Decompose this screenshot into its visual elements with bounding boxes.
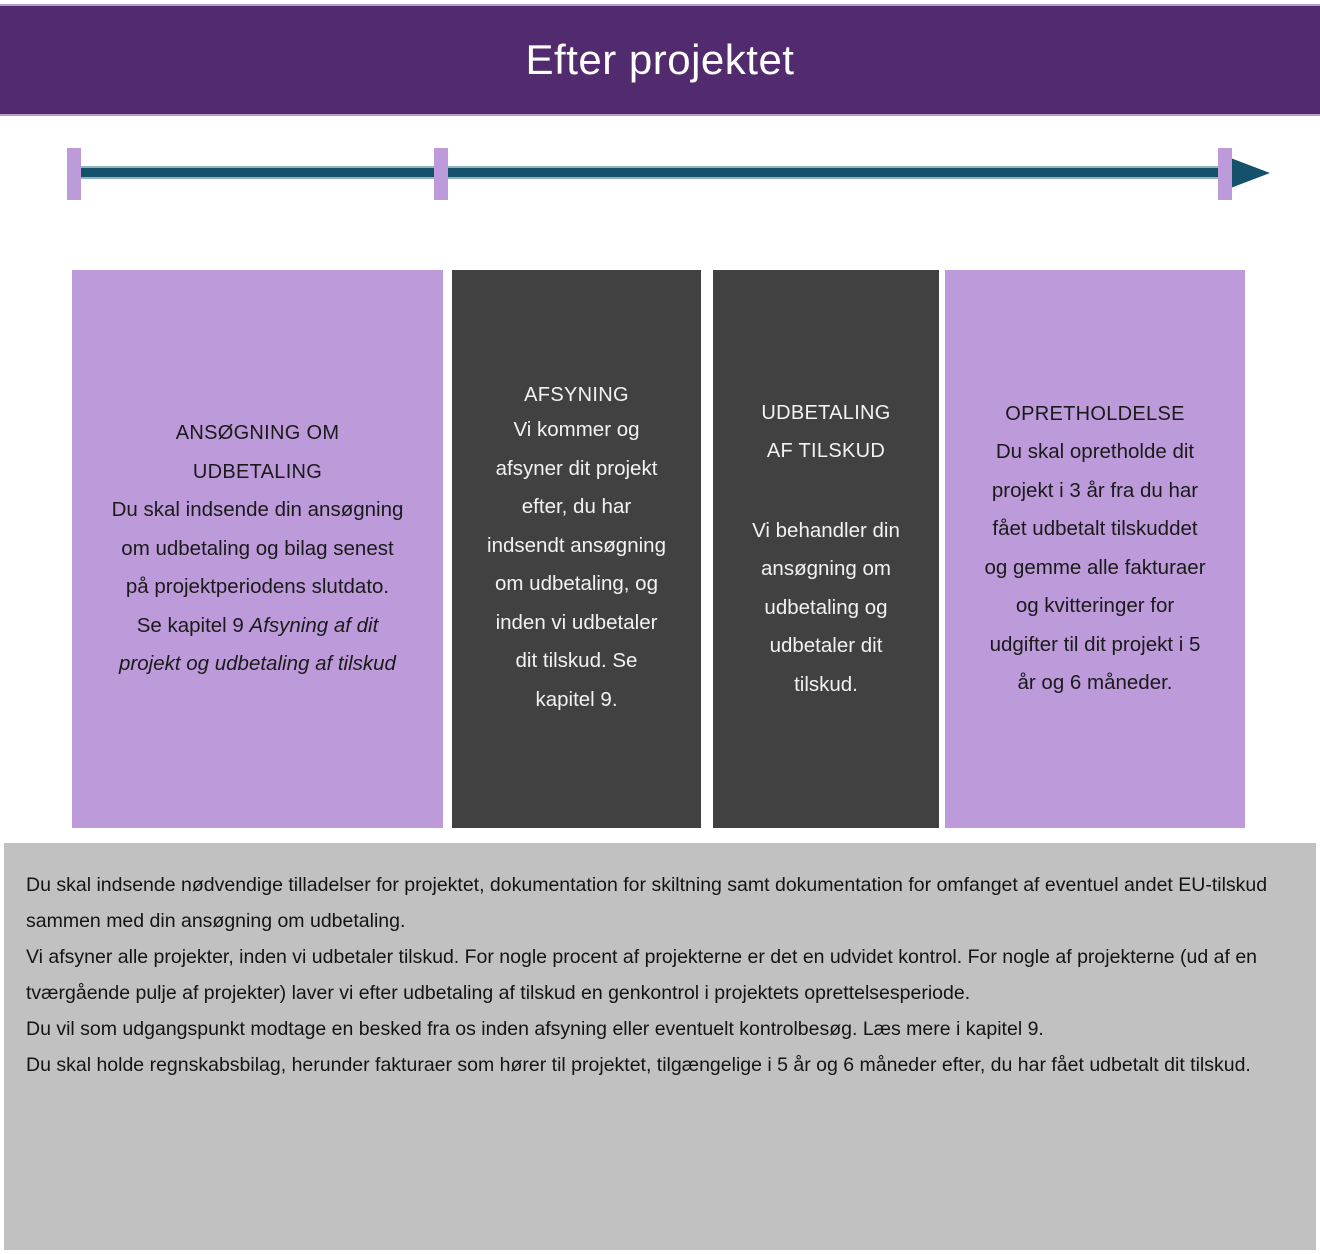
stage-card-afsyning: AFSYNING Vi kommer og afsyner dit projek…	[452, 270, 701, 828]
stage-title-opretholdelse: OPRETHOLDELSE	[1005, 395, 1185, 433]
stage-card-opretholdelse: OPRETHOLDELSE Du skal opretholde dit pro…	[945, 270, 1245, 828]
timeline-arrow-icon	[1228, 157, 1270, 189]
stage-body-ansogning-om-udbetaling: Du skal indsende din ansøgning om udbeta…	[112, 491, 404, 684]
note-paragraph-2: Vi afsyner alle projekter, inden vi udbe…	[26, 939, 1294, 1011]
header-banner: Efter projektet	[0, 4, 1320, 116]
stage-body-opretholdelse: Du skal opretholde dit projekt i 3 år fr…	[984, 433, 1205, 703]
stage-title-afsyning: AFSYNING	[524, 379, 629, 411]
timeline-tick-end	[1218, 148, 1232, 200]
stage-columns: ANSØGNING OM UDBETALING Du skal indsende…	[0, 270, 1320, 828]
timeline-tick-middle	[434, 148, 448, 200]
stage-body-afsyning: Vi kommer og afsyner dit projekt efter, …	[487, 411, 666, 719]
stage-title-udbetaling-af-tilskud: UDBETALING AF TILSKUD	[761, 394, 890, 470]
timeline-axis-line	[74, 166, 1246, 179]
stage-card-ansogning-om-udbetaling: ANSØGNING OM UDBETALING Du skal indsende…	[72, 270, 443, 828]
note-paragraph-4: Du skal holde regnskabsbilag, herunder f…	[26, 1047, 1294, 1083]
note-block: Du skal indsende nødvendige tilladelser …	[4, 843, 1316, 1250]
stage-body-udbetaling-af-tilskud: Vi behandler din ansøgning om udbetaling…	[752, 512, 900, 705]
note-paragraph-1: Du skal indsende nødvendige tilladelser …	[26, 867, 1294, 939]
timeline-tick-start	[67, 148, 81, 200]
stage-title-ansogning-om-udbetaling: ANSØGNING OM UDBETALING	[176, 414, 340, 491]
project-timeline	[0, 140, 1320, 220]
note-paragraph-3: Du vil som udgangspunkt modtage en beske…	[26, 1011, 1294, 1047]
stage-card-udbetaling-af-tilskud: UDBETALING AF TILSKUD Vi behandler din a…	[713, 270, 939, 828]
page-title: Efter projektet	[526, 39, 795, 81]
